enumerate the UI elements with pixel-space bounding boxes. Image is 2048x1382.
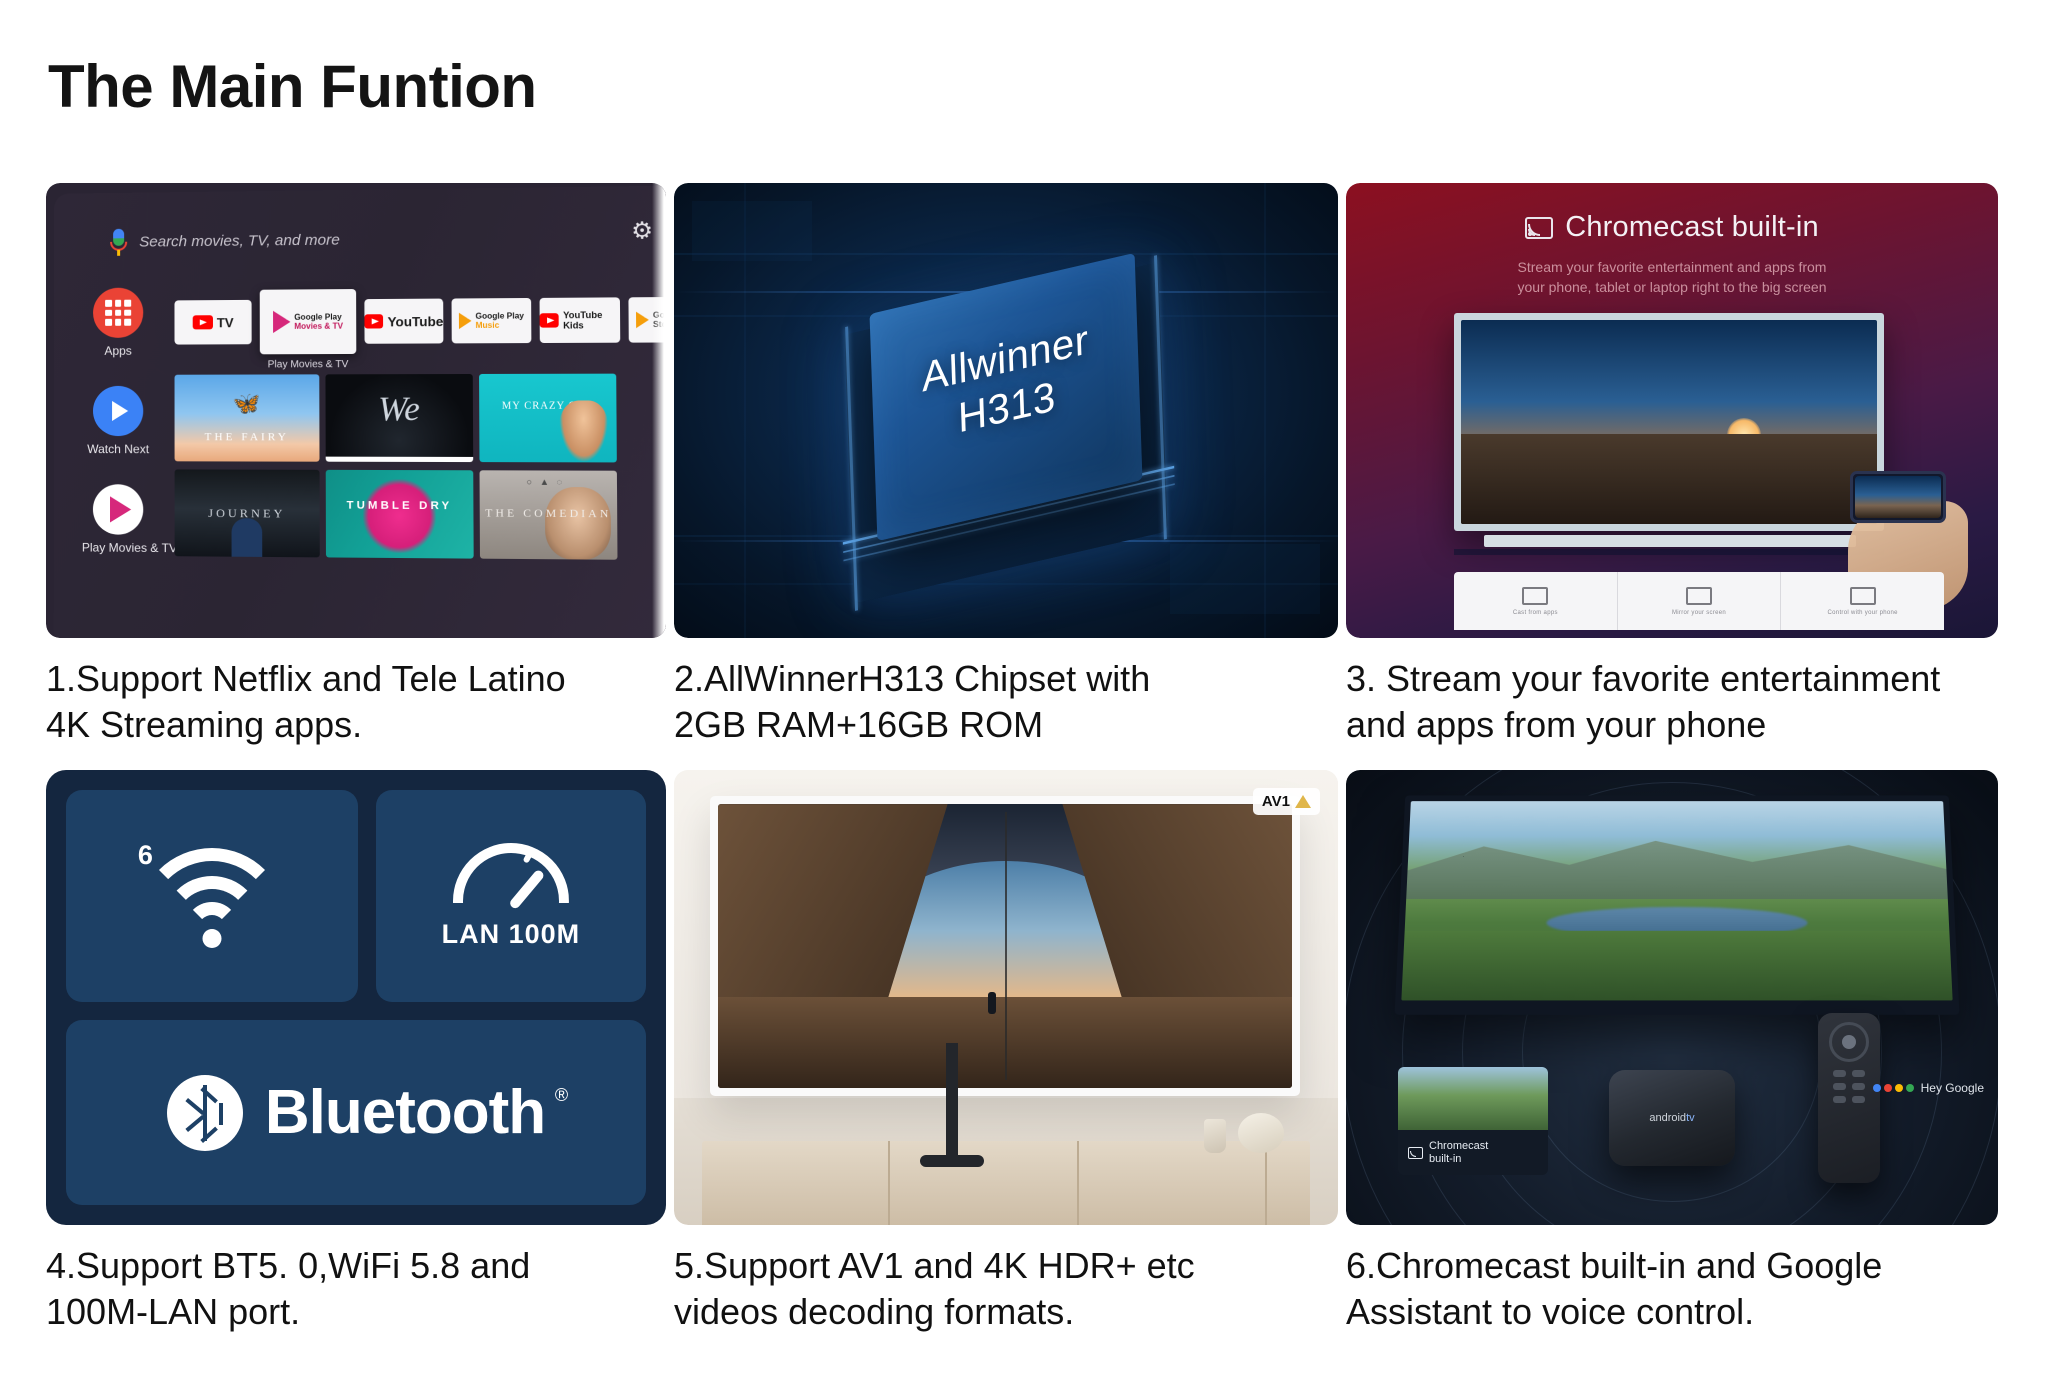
chip-scene: AllwinnerH313 [674, 183, 1338, 638]
mirror-screen-icon [1686, 587, 1712, 605]
feature-cell-wifi-bluetooth-lan: 6 LAN 100M [46, 770, 674, 1335]
search-bar[interactable]: Search movies, TV, and more [110, 226, 340, 255]
feature-caption: 3. Stream your favorite entertainment an… [1346, 656, 2006, 748]
tray-item-label: Control with your phone [1828, 610, 1898, 616]
app-tile-youtube-tv[interactable]: TV [174, 300, 251, 345]
tv-mockup [1454, 313, 1884, 531]
app-tile-label: Google PlayMovies & TV [294, 312, 343, 331]
bluetooth-icon [167, 1075, 243, 1151]
device-brand-label: androidtv [1649, 1112, 1694, 1124]
thumbnail-card[interactable]: JOURNEY [175, 469, 320, 557]
thumbnail-card[interactable]: TUMBLE DRY [326, 470, 474, 559]
floor-stand [946, 1043, 958, 1161]
feature-caption: 5.Support AV1 and 4K HDR+ etc videos dec… [674, 1243, 1346, 1335]
poster-figure [232, 518, 263, 557]
frame-edge-fade [652, 183, 666, 638]
feature-cell-chromecast-stream: Chromecast built-in Stream your favorite… [1346, 183, 2006, 748]
chromecast-header: Chromecast built-in [1346, 211, 1998, 244]
app-tile-youtube-kids[interactable]: YouTube Kids [540, 297, 621, 343]
app-tile-label: YouTube [388, 313, 444, 329]
app-tile-label: TV [217, 315, 234, 330]
microphone-icon [110, 229, 127, 256]
google-assistant-icon [1873, 1084, 1914, 1092]
app-row: TV Google PlayMovies & TV Play Movies & … [174, 297, 666, 355]
sidebar-item-label: Apps [82, 344, 154, 358]
google-play-music-icon [459, 313, 472, 329]
registered-mark: ® [555, 1085, 567, 1106]
feature-caption: 4.Support BT5. 0,WiFi 5.8 and 100M-LAN p… [46, 1243, 674, 1335]
room-scene: AV1 [674, 770, 1338, 1225]
feature-cell-av1-hdr-decoding: AV1 5.Support AV1 and 4K HDR+ etc videos… [674, 770, 1346, 1335]
android-tv-ui: Search movies, TV, and more ⚙ Apps [54, 186, 666, 638]
sidebar-item-play-movies[interactable]: Play Movies & TV [82, 484, 155, 555]
player-controls-icon: ○▲◌ [527, 477, 570, 487]
lamp-decor [1238, 1113, 1284, 1153]
phone-control-icon [1850, 587, 1876, 605]
chromecast-builtin-label: Chromecast built-in [1408, 1140, 1488, 1165]
chromecast-subtitle: Stream your favorite entertainment and a… [1346, 257, 1998, 298]
feature-caption: 1.Support Netflix and Tele Latino 4K Str… [46, 656, 674, 748]
poster-figure [559, 400, 608, 462]
wifi-icon: 6 [136, 844, 288, 948]
vase-decor [1204, 1119, 1226, 1153]
wifi-card: 6 [66, 790, 358, 1002]
cabinet [702, 1141, 1310, 1225]
sidebar-item-label: Play Movies & TV [82, 540, 155, 555]
google-play-store-icon [636, 312, 649, 329]
android-tv-box-device: androidtv [1609, 1070, 1735, 1166]
tv-mockup [1395, 796, 1960, 1015]
sidebar-item-label: Watch Next [82, 442, 154, 456]
apps-grid-icon [93, 288, 143, 338]
wifi-generation-badge: 6 [138, 840, 153, 871]
thumbnail-title: THE COMEDIAN [480, 507, 618, 520]
sidebar-item-watch-next[interactable]: Watch Next [82, 386, 154, 456]
poster-figure [545, 487, 611, 560]
chromecast-card: Chromecast built-in [1398, 1067, 1548, 1175]
app-tile-play-music[interactable]: Google PlayMusic [452, 298, 532, 343]
feature-caption: 2.AllWinnerH313 Chipset with 2GB RAM+16G… [674, 656, 1346, 748]
page-title: The Main Funtion [48, 52, 537, 121]
thumbnail-title: TUMBLE DRY [326, 494, 474, 518]
youtube-kids-icon [540, 313, 559, 327]
foreground-graphic [1401, 931, 1952, 1000]
google-play-movies-icon [273, 311, 290, 333]
chromecast-scene: Chromecast built-in Stream your favorite… [1346, 183, 1998, 638]
allwinner-chip-image: AllwinnerH313 [674, 183, 1346, 638]
tray-item: Cast from apps [1454, 572, 1618, 630]
butterfly-icon: 🦋 [233, 391, 261, 417]
chromecast-builtin-image: Chromecast built-in Stream your favorite… [1346, 183, 2006, 638]
app-tile-caption: Play Movies & TV [260, 359, 357, 370]
tvbox-scene: androidtv Chromecast built-in [1346, 770, 1998, 1225]
thumbnail-card[interactable]: We [325, 374, 473, 462]
youtube-icon [364, 314, 383, 328]
content-row-1: 🦋 THE FAIRY We MY CRAZY ONE [175, 374, 617, 463]
bluetooth-card: Bluetooth® [66, 1020, 646, 1205]
tv-stand [1484, 535, 1856, 547]
connectivity-graphic: 6 LAN 100M [46, 770, 674, 1225]
app-tile-play-movies[interactable]: Google PlayMovies & TV Play Movies & TV [260, 289, 357, 354]
hey-google-badge: Hey Google [1873, 1081, 1984, 1095]
card-thumbnail [1398, 1067, 1548, 1130]
thumbnail-title: We [378, 390, 420, 429]
android-tv-home-screenshot: Search movies, TV, and more ⚙ Apps [46, 183, 674, 638]
app-tile-label: Google PlayMusic [475, 311, 524, 330]
assistant-label: Hey Google [1921, 1081, 1984, 1095]
landscape-graphic [1461, 434, 1877, 524]
thumbnail-title: THE FAIRY [175, 431, 320, 443]
app-tile-label: YouTube Kids [563, 310, 620, 331]
tray-item: Control with your phone [1781, 572, 1944, 630]
infographic-page: The Main Funtion Search movies, TV, and … [0, 0, 2048, 1382]
connectivity-top-row: 6 LAN 100M [66, 790, 646, 1002]
app-tile-youtube[interactable]: YouTube [364, 299, 443, 344]
tray-item-label: Cast from apps [1513, 610, 1558, 616]
thumbnail-card[interactable]: MY CRAZY ONE [479, 374, 617, 463]
home-rail: Apps Watch Next Play Movies & TV [82, 288, 155, 584]
cast-from-apps-icon [1522, 587, 1548, 605]
image-split-line [1005, 812, 1007, 1080]
sidebar-item-apps[interactable]: Apps [82, 288, 154, 358]
av1-label: AV1 [1262, 793, 1290, 810]
tray-item: Mirror your screen [1618, 572, 1782, 630]
feature-caption: 6.Chromecast built-in and Google Assista… [1346, 1243, 2006, 1335]
android-tv-frame: Search movies, TV, and more ⚙ Apps [46, 183, 666, 638]
projected-image [718, 804, 1292, 1088]
search-input-placeholder: Search movies, TV, and more [139, 231, 340, 250]
thumbnail-card[interactable]: ○▲◌ THE COMEDIAN [480, 470, 618, 559]
google-play-movies-icon [93, 484, 143, 535]
projection-room-image: AV1 [674, 770, 1346, 1225]
feature-grid: Search movies, TV, and more ⚙ Apps [46, 183, 2006, 1335]
tray-item-label: Mirror your screen [1672, 610, 1726, 616]
feature-cell-chromecast-google-assistant: androidtv Chromecast built-in [1346, 770, 2006, 1335]
tvbox-remote-image: androidtv Chromecast built-in [1346, 770, 2006, 1225]
bluetooth-label: Bluetooth® [265, 1077, 545, 1148]
chromecast-title: Chromecast built-in [1565, 211, 1819, 244]
cast-icon [1525, 217, 1553, 239]
connectivity-panel: 6 LAN 100M [46, 770, 666, 1225]
feature-cell-allwinner-chipset: AllwinnerH313 2.AllWinnerH313 Chipset wi… [674, 183, 1346, 748]
content-row-2: JOURNEY TUMBLE DRY ○▲◌ THE COMEDIAN [175, 469, 618, 559]
phone-mockup [1850, 471, 1946, 523]
feature-cell-netflix-streaming: Search movies, TV, and more ⚙ Apps [46, 183, 674, 748]
remote-control[interactable] [1818, 1013, 1880, 1183]
cast-icon [1408, 1147, 1423, 1159]
lan-card: LAN 100M [376, 790, 646, 1002]
av1-badge: AV1 [1253, 788, 1320, 815]
dpad-icon[interactable] [1829, 1022, 1869, 1062]
av1-logo-icon [1295, 795, 1311, 808]
thumbnail-card[interactable]: 🦋 THE FAIRY [175, 374, 320, 461]
tv-base [1454, 549, 1884, 555]
projection-screen [710, 796, 1300, 1096]
mountains-graphic [1406, 828, 1948, 899]
tv-screen [1461, 320, 1877, 524]
youtube-tv-icon [192, 315, 212, 329]
person-silhouette [988, 992, 996, 1014]
lan-label: LAN 100M [442, 919, 581, 950]
play-circle-icon [93, 386, 143, 436]
tv-screen [1401, 801, 1952, 1000]
feature-tray: Cast from apps Mirror your screen Contro… [1454, 572, 1944, 630]
speed-gauge-icon [453, 843, 569, 909]
